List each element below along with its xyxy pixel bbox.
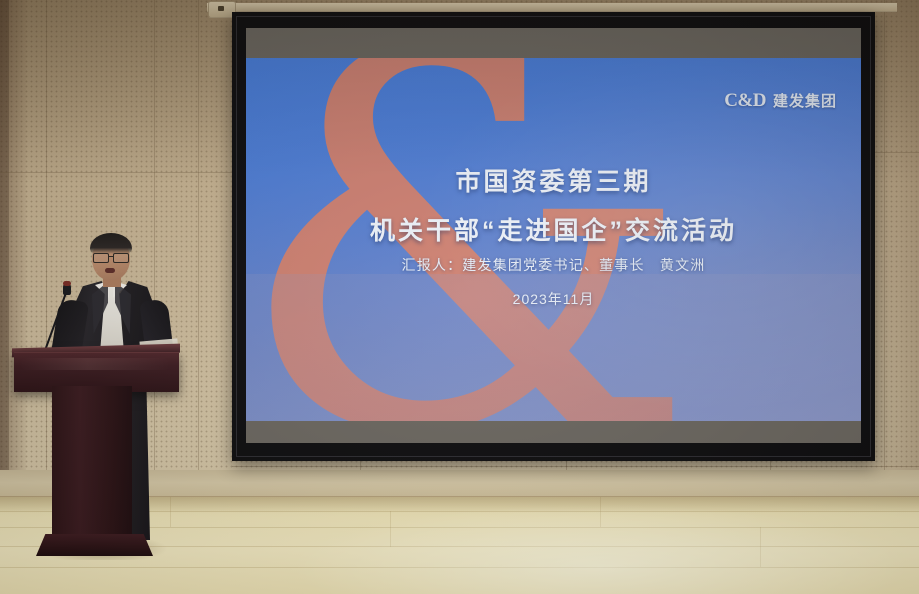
logo-mark-text: C&D xyxy=(724,90,766,112)
wall-panel-seam xyxy=(198,0,199,470)
presentation-slide: & C&D 建发集团 市国资委第三期 机关干部“走进国企”交流活动 汇报人：建发… xyxy=(246,58,861,421)
lectern-column xyxy=(52,386,132,539)
wall-panel-seam xyxy=(884,0,885,470)
slide-title-line-1: 市国资委第三期 xyxy=(246,162,861,198)
screen-mount-rail xyxy=(207,3,897,12)
speaker-mouth xyxy=(105,268,115,273)
slide-presenter-line: 汇报人：建发集团党委书记、董事长 黄文洲 xyxy=(246,255,861,275)
logo-company-name: 建发集团 xyxy=(773,90,837,111)
slide-title-block: 市国资委第三期 机关干部“走进国企”交流活动 xyxy=(246,162,861,247)
wall-panel-seam xyxy=(875,152,919,153)
lectern-base xyxy=(36,534,153,556)
wall-panel-seam xyxy=(232,466,919,467)
brand-logo: C&D 建发集团 xyxy=(724,90,837,112)
slide-subtitle-block: 汇报人：建发集团党委书记、董事长 黄文洲 2023年11月 xyxy=(246,255,861,309)
eyeglasses-icon xyxy=(93,253,129,262)
projection-screen: & C&D 建发集团 市国资委第三期 机关干部“走进国企”交流活动 汇报人：建发… xyxy=(232,12,875,461)
wall-panel-seam xyxy=(154,0,155,470)
wall-panel-seam xyxy=(46,0,47,470)
eyeglasses-bridge xyxy=(108,256,114,257)
wall-corner-edge xyxy=(0,0,9,470)
lectern-front-highlight xyxy=(20,358,170,370)
screen-surface: & C&D 建发集团 市国资委第三期 机关干部“走进国企”交流活动 汇报人：建发… xyxy=(246,28,861,443)
slide-date-line: 2023年11月 xyxy=(246,289,861,309)
microphone-windscreen xyxy=(63,281,71,286)
presentation-room-photo: & C&D 建发集团 市国资委第三期 机关干部“走进国企”交流活动 汇报人：建发… xyxy=(0,0,919,594)
slide-title-line-2: 机关干部“走进国企”交流活动 xyxy=(246,211,861,247)
